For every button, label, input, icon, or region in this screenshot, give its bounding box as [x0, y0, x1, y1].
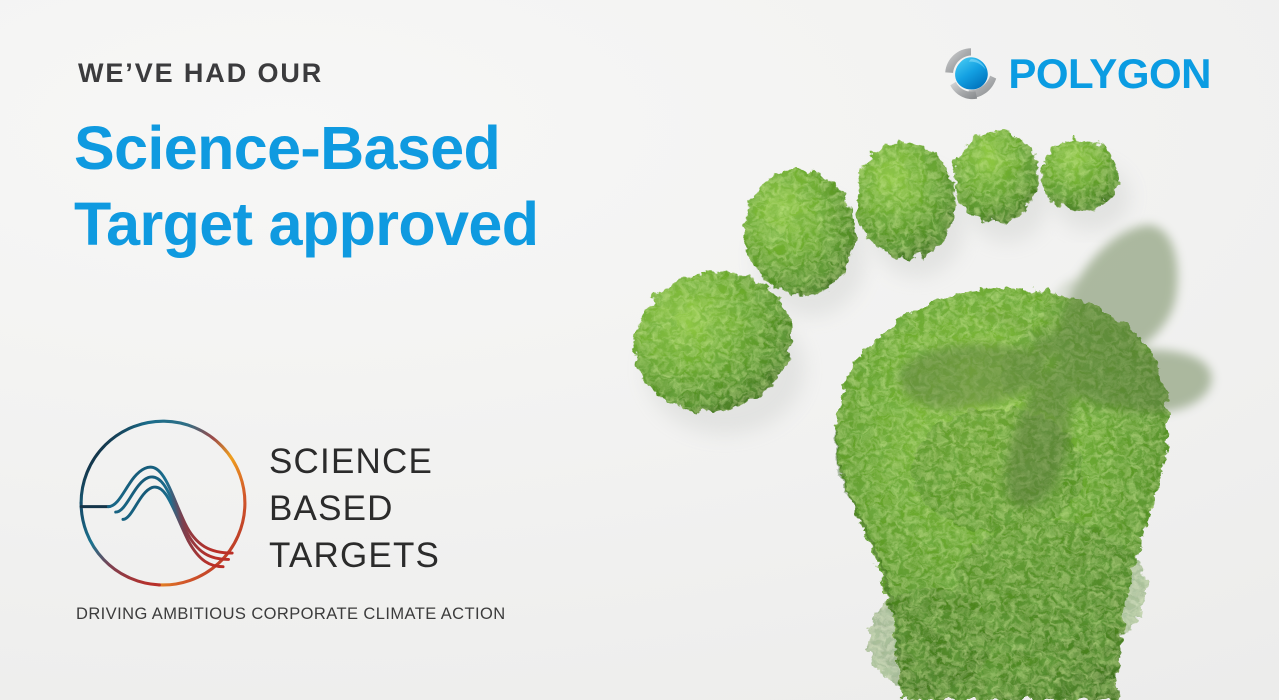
polygon-droplet-swirl-icon — [943, 46, 999, 102]
sbt-wordmark-line-3: TARGETS — [269, 532, 440, 579]
sbt-wordmark: SCIENCE BASED TARGETS — [269, 438, 440, 579]
sbt-emissions-curve-icon — [72, 412, 254, 594]
promo-banner: WE’VE HAD OUR Science-Based Target appro… — [0, 0, 1279, 700]
kicker-text: WE’VE HAD OUR — [78, 58, 323, 89]
page-title: Science-Based Target approved — [74, 110, 694, 262]
headline-line-2: Target approved — [74, 186, 694, 262]
polygon-wordmark: POLYGON — [1008, 53, 1211, 95]
moss-footprint-artwork — [600, 0, 1279, 700]
sbt-tagline: DRIVING AMBITIOUS CORPORATE CLIMATE ACTI… — [76, 605, 506, 624]
headline-line-1: Science-Based — [74, 114, 500, 182]
polygon-logo[interactable]: POLYGON — [943, 46, 1211, 102]
sbt-wordmark-line-1: SCIENCE — [269, 438, 440, 485]
sbt-wordmark-line-2: BASED — [269, 485, 440, 532]
science-based-targets-logo[interactable]: SCIENCE BASED TARGETS DRIVING AMBITIOUS … — [72, 412, 472, 632]
